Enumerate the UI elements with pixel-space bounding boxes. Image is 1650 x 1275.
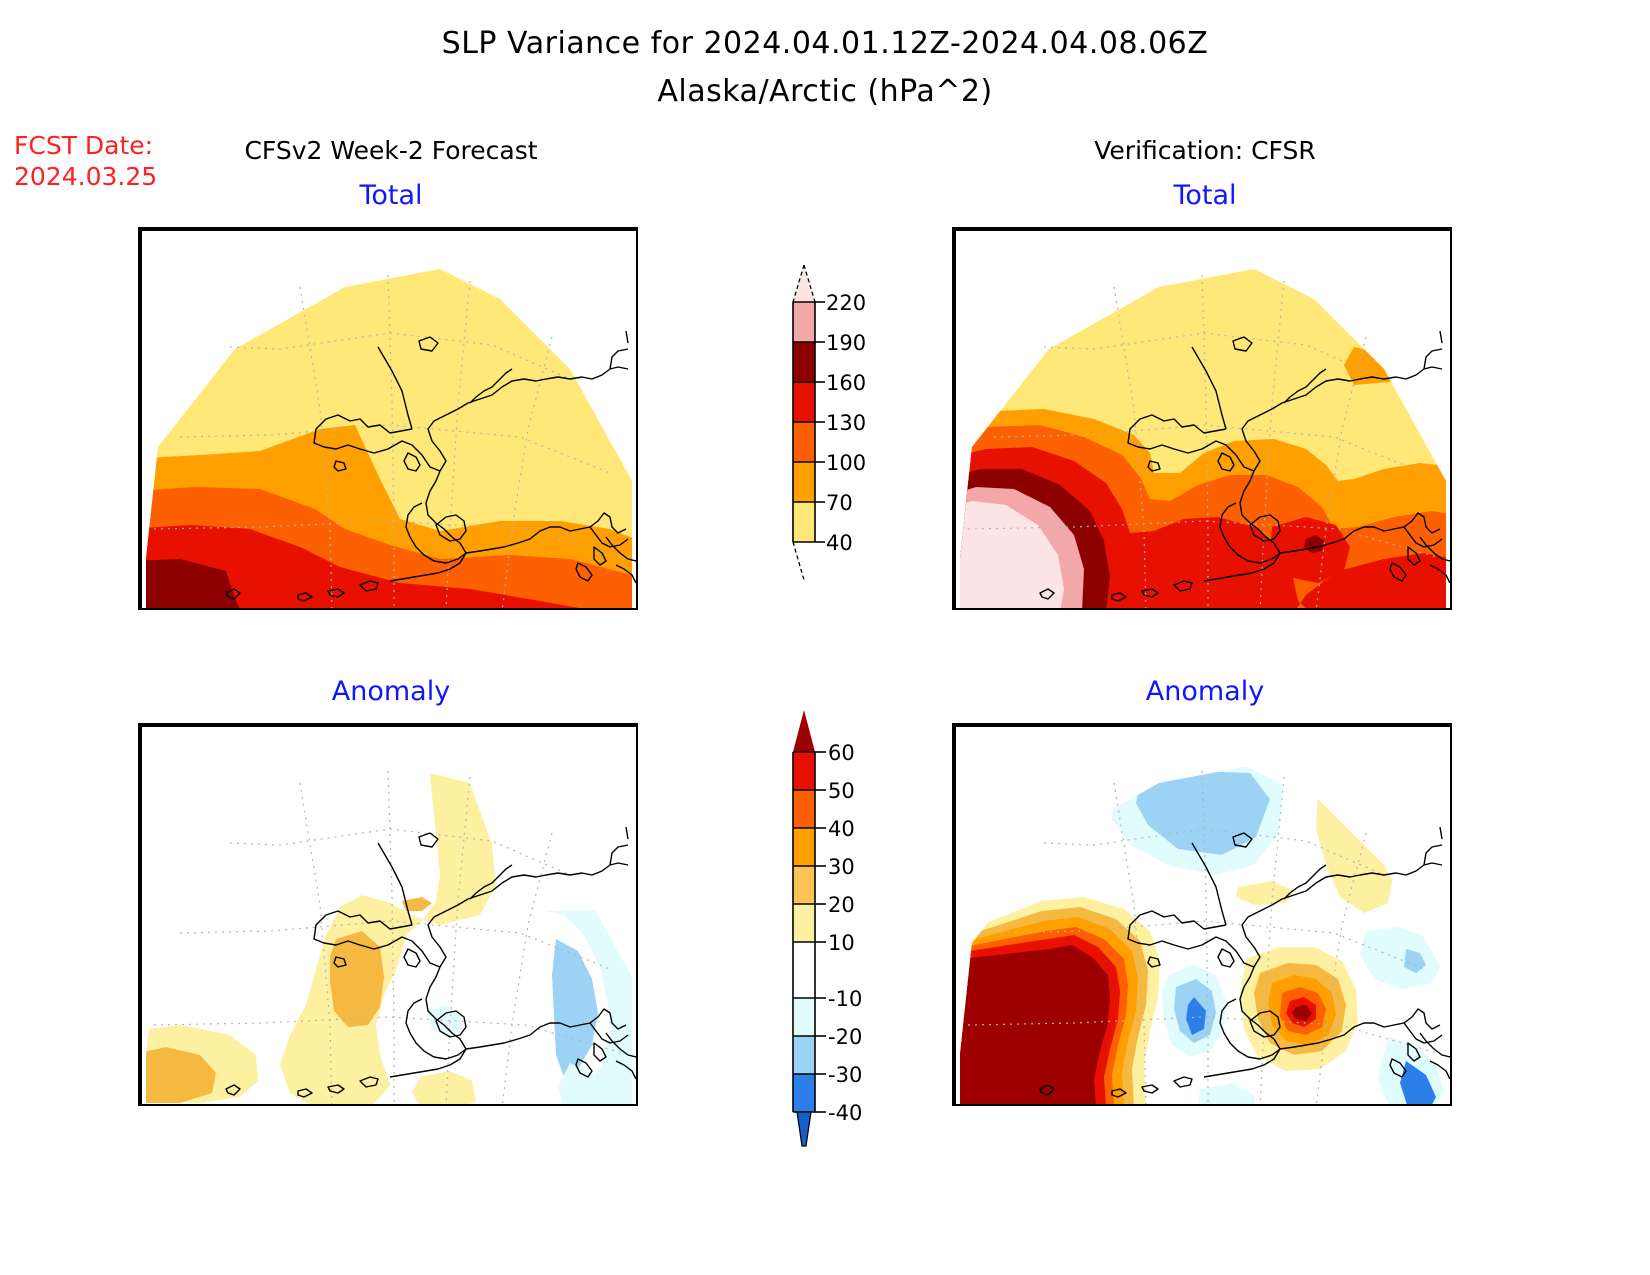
map-panel-forecast-anomaly xyxy=(138,723,638,1106)
page-title-line2: Alaska/Arctic (hPa^2) xyxy=(0,74,1650,109)
colorbar-anomaly-tick-6: -10 xyxy=(828,987,862,1011)
colorbar-extend-top xyxy=(793,710,815,752)
colorbar-total-tick-6: 40 xyxy=(826,531,853,555)
panel-label-bottom-left: Anomaly xyxy=(136,676,646,707)
colorbar-anomaly-tick-5: 10 xyxy=(828,931,855,955)
colorbar-anomaly-tick-9: -40 xyxy=(828,1101,862,1125)
contour-band-above-60-sw xyxy=(954,945,1110,1106)
colorbar-anomaly-tick-3: 30 xyxy=(828,855,855,879)
contour-fill-group xyxy=(954,725,1452,1106)
colorbar-bands xyxy=(793,752,815,1112)
panel-label-top-right: Total xyxy=(950,180,1460,211)
colorbar-total-tick-0: 220 xyxy=(826,291,866,315)
colorbar-anomaly-tick-1: 50 xyxy=(828,779,855,803)
colorbar-anomaly-tick-4: 20 xyxy=(828,893,855,917)
contour-band-70-100-ne xyxy=(1344,347,1400,385)
colorbar-ticks xyxy=(815,752,826,1112)
colorbar-anomaly: 60 50 40 30 20 10 -10 -20 -30 -40 xyxy=(700,700,880,1150)
colorbar-ticks xyxy=(815,302,825,542)
colorbar-anomaly-tick-7: -20 xyxy=(828,1025,862,1049)
contour-fill-group xyxy=(140,229,638,610)
contour-fill-group xyxy=(954,229,1452,610)
colorbar-total-tick-4: 100 xyxy=(826,451,866,475)
panel-label-top-left: Total xyxy=(136,180,646,211)
colorbar-extend-bottom xyxy=(797,1112,811,1146)
column-header-verification: Verification: CFSR xyxy=(950,136,1460,165)
map-panel-verification-total xyxy=(952,227,1452,610)
page-title-line1: SLP Variance for 2024.04.01.12Z-2024.04.… xyxy=(0,26,1650,61)
map-panel-verification-anomaly xyxy=(952,723,1452,1106)
colorbar-anomaly-tick-0: 60 xyxy=(828,741,855,765)
column-header-forecast: CFSv2 Week-2 Forecast xyxy=(136,136,646,165)
colorbar-total-tick-5: 70 xyxy=(826,491,853,515)
map-panel-forecast-total xyxy=(138,227,638,610)
contour-fill-group xyxy=(140,725,638,1106)
colorbar-total-tick-1: 190 xyxy=(826,331,866,355)
colorbar-anomaly-tick-8: -30 xyxy=(828,1063,862,1087)
colorbar-total-tick-3: 130 xyxy=(826,411,866,435)
colorbar-extend-top xyxy=(793,265,815,302)
contour-band-20-30-west xyxy=(330,931,384,1027)
colorbar-total: 220 190 160 130 100 70 40 xyxy=(700,250,880,600)
panel-label-bottom-right: Anomaly xyxy=(950,676,1460,707)
colorbar-total-tick-2: 160 xyxy=(826,371,866,395)
colorbar-extend-bottom xyxy=(793,542,804,580)
colorbar-anomaly-tick-2: 40 xyxy=(828,817,855,841)
